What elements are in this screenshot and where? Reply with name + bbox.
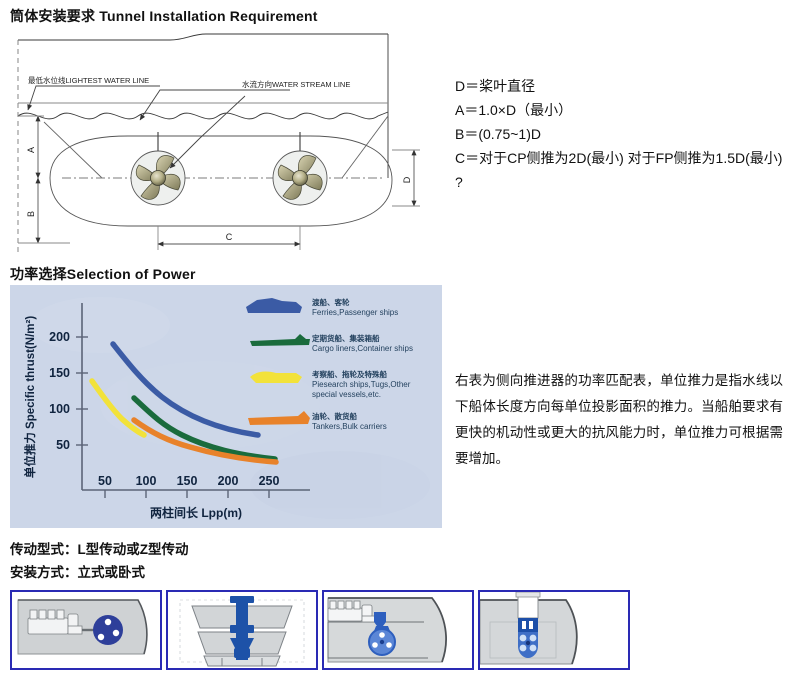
formula-item-a: A＝1.0×D（最小） [455, 98, 785, 122]
svg-text:Tankers,Bulk carriers: Tankers,Bulk carriers [312, 422, 387, 431]
svg-text:渡船、客轮: 渡船、客轮 [312, 297, 350, 307]
formula-item-question: ? [455, 170, 785, 194]
svg-text:50: 50 [56, 438, 70, 452]
formula-item-c: C＝对于CP侧推为2D(最小) 对于FP侧推为1.5D(最小) [455, 146, 785, 170]
svg-text:50: 50 [98, 474, 112, 488]
formula-item-b: B＝(0.75~1)D [455, 122, 785, 146]
svg-text:Ferries,Passenger ships: Ferries,Passenger ships [312, 308, 398, 317]
specific-thrust-chart: 200 150 100 50 50 100 150 200 250 单位推力 S… [10, 285, 442, 528]
svg-text:100: 100 [136, 474, 157, 488]
svg-text:Piesearch ships,Tugs,Other: Piesearch ships,Tugs,Other [312, 380, 411, 389]
svg-text:油轮、散货船: 油轮、散货船 [312, 411, 357, 421]
formula-item-d: D＝桨叶直径 [455, 74, 785, 98]
dimension-label-a: A [26, 147, 36, 153]
ship-icon-research [250, 372, 302, 383]
thumbnail-vertical-shaft-thruster-section[interactable] [166, 590, 318, 670]
l-drive-thruster-icon [516, 592, 540, 658]
svg-text:150: 150 [177, 474, 198, 488]
dimension-label-c: C [226, 232, 233, 242]
svg-text:100: 100 [49, 402, 70, 416]
thruster-arrangement-thumbnails [10, 590, 642, 672]
svg-text:200: 200 [49, 330, 70, 344]
tunnel-installation-drawing: 最低水位线LIGHTEST WATER LINE 水流方向WATER STREA… [10, 28, 440, 258]
dimension-label-b: B [26, 211, 36, 217]
svg-text:定期货船、集装箱船: 定期货船、集装箱船 [312, 333, 380, 343]
page-root: 筒体安装要求 Tunnel Installation Requirement [0, 0, 790, 679]
dimension-label-d: D [402, 176, 412, 183]
spec-mounting-type: 安装方式：立式或卧式 [10, 561, 145, 581]
formula-list: D＝桨叶直径 A＝1.0×D（最小） B＝(0.75~1)D C＝对于CP侧推为… [455, 74, 785, 194]
svg-text:考察船、拖轮及特殊船: 考察船、拖轮及特殊船 [312, 369, 387, 379]
chart-x-axis-label: 两柱间长 Lpp(m) [150, 505, 242, 520]
label-lightest-water-line: 最低水位线LIGHTEST WATER LINE [28, 75, 149, 85]
thumbnail-horizontal-engine-driven-thruster[interactable] [10, 590, 162, 670]
thumbnail-vertical-l-drive-thruster-bow[interactable] [478, 590, 630, 670]
svg-text:150: 150 [49, 366, 70, 380]
svg-text:250: 250 [259, 474, 280, 488]
label-water-stream-line: 水流方向WATER STREAM LINE [242, 79, 350, 89]
chart-y-axis-label: 单位推力 Specific thrust(N/m²) [23, 316, 37, 478]
svg-text:Cargo liners,Container ships: Cargo liners,Container ships [312, 344, 413, 353]
page-title-tunnel-installation: 筒体安装要求 Tunnel Installation Requirement [10, 6, 318, 26]
chart-description-note: 右表为侧向推进器的功率匹配表，单位推力是指水线以下船体长度方向每单位投影面积的推… [455, 368, 783, 472]
thumbnail-engine-driven-bow-thruster-profile[interactable] [322, 590, 474, 670]
page-title-selection-of-power: 功率选择Selection of Power [10, 264, 196, 284]
svg-text:200: 200 [218, 474, 239, 488]
spec-drive-type: 传动型式：L型传动或Z型传动 [10, 538, 189, 558]
svg-text:special vessels,etc.: special vessels,etc. [312, 390, 381, 399]
thruster-icon [93, 615, 123, 645]
